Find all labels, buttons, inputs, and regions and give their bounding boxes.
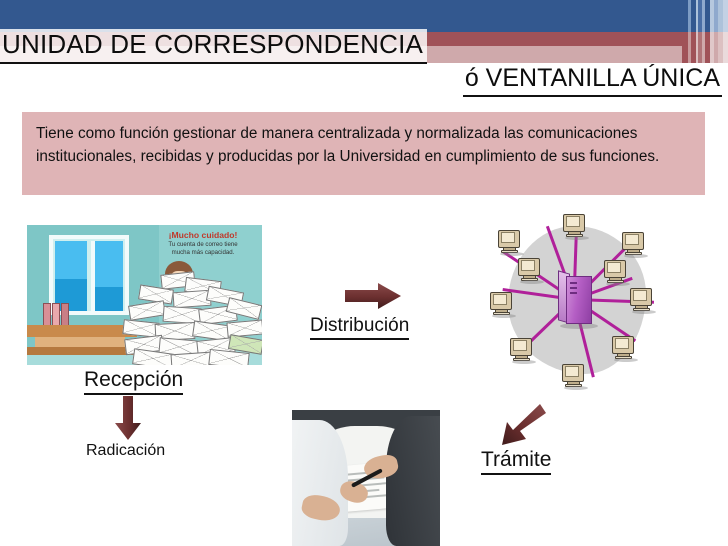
network-node	[622, 232, 652, 256]
arrow-diagonal-icon	[500, 404, 546, 446]
network-node	[510, 338, 540, 362]
network-node	[612, 336, 642, 360]
caption-line-1: Tu cuenta de correo tiene	[147, 241, 259, 248]
network-server-icon	[558, 272, 598, 328]
network-node	[563, 214, 593, 238]
letters-caption: ¡Mucho cuidado! Tu cuenta de correo tien…	[147, 231, 259, 256]
caption-line-2: mucha más capacidad.	[147, 249, 259, 256]
header-decorative-stripes-lower	[682, 32, 728, 63]
network-node	[518, 258, 548, 282]
image-document-signing	[292, 410, 440, 546]
image-network-diagram	[470, 212, 685, 390]
label-radicacion: Radicación	[86, 442, 165, 460]
slide-canvas: UNIDAD DE CORRESPONDENCIA ó VENTANILLA Ú…	[0, 0, 728, 546]
desk-shape-2	[35, 337, 125, 347]
arrow-down-icon	[115, 396, 141, 440]
network-node	[630, 288, 660, 312]
network-node	[490, 292, 520, 316]
description-text: Tiene como función gestionar de manera c…	[36, 122, 691, 169]
image-letters-pile: ¡Mucho cuidado! Tu cuenta de correo tien…	[27, 225, 262, 365]
page-title: UNIDAD DE CORRESPONDENCIA	[0, 29, 427, 64]
arrow-right-icon	[345, 283, 401, 309]
label-distribucion: Distribución	[310, 315, 409, 340]
description-box: Tiene como función gestionar de manera c…	[22, 112, 705, 195]
network-node	[604, 260, 634, 284]
signing-person-right	[386, 416, 440, 546]
books-icon	[43, 303, 69, 327]
desk-shape	[27, 325, 137, 337]
signing-person-left	[292, 420, 348, 546]
label-recepcion: Recepción	[84, 368, 183, 395]
network-node	[562, 364, 592, 388]
page-subtitle: ó VENTANILLA ÚNICA	[463, 64, 722, 97]
network-node	[498, 230, 528, 254]
caption-title: ¡Mucho cuidado!	[147, 231, 259, 240]
envelope-pile	[123, 273, 262, 365]
header-band-blue	[0, 0, 728, 32]
label-tramite: Trámite	[481, 448, 551, 475]
